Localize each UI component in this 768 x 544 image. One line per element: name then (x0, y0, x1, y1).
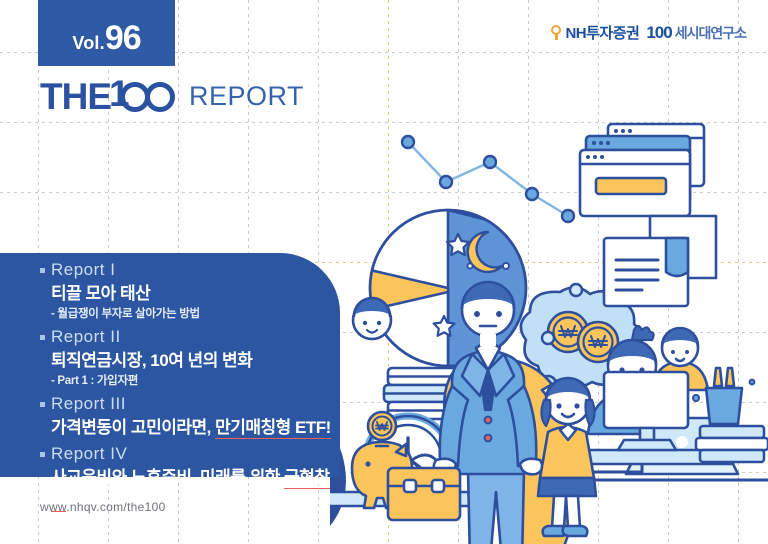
report-entry-3: Report III 가격변동이 고민이라면, 만기매칭형 ETF! (40, 393, 332, 440)
volume-number: 96 (105, 19, 141, 57)
report-4-title-text: 사교육비와 노후준비, 미래를 위한 (51, 468, 284, 487)
report-2-title-text: 퇴직연금시장, 10여 년의 변화 (51, 351, 252, 370)
report-cover: Vol.96 THE 1 REPORT NH투자증권 100 세시대연구소 Re… (0, 0, 768, 544)
report-2-heading: Report II (40, 326, 332, 349)
report-2-title: 퇴직연금시장, 10여 년의 변화 (51, 349, 332, 373)
report-entry-2: Report II 퇴직연금시장, 10여 년의 변화 - Part 1 : 가… (40, 326, 332, 390)
report-1-subtitle: - 월급쟁이 부자로 살아가는 방법 (51, 306, 332, 323)
square-bullet-icon (40, 335, 45, 340)
square-bullet-icon (40, 402, 45, 407)
cover-illustration (330, 120, 768, 544)
report-1-title-text: 티끌 모아 태산 (51, 284, 150, 303)
report-3-title-text: 가격변동이 고민이라면, (51, 418, 215, 437)
nh-sprout-logo-icon (550, 25, 562, 40)
brand-logo: NH투자증권 100 세시대연구소 (550, 22, 746, 43)
volume-prefix: Vol. (72, 33, 104, 53)
brand-lab-number: 100 (646, 23, 671, 43)
report-1-title: 티끌 모아 태산 (51, 282, 332, 306)
square-bullet-icon (40, 268, 45, 273)
report-4-label: Report IV (51, 443, 127, 466)
report-1-label: Report I (51, 259, 115, 282)
masthead-report-word: REPORT (189, 83, 304, 110)
masthead-zero-second-icon (145, 82, 175, 112)
report-entry-1: Report I 티끌 모아 태산 - 월급쟁이 부자로 살아가는 방법 (40, 259, 332, 323)
square-bullet-icon (40, 452, 45, 457)
masthead-logo: THE 1 REPORT (40, 76, 304, 116)
report-4-heading: Report IV (40, 443, 332, 466)
contents-list: Report I 티끌 모아 태산 - 월급쟁이 부자로 살아가는 방법 Rep… (40, 259, 332, 516)
volume-badge: Vol.96 (38, 0, 175, 66)
report-3-title: 가격변동이 고민이라면, 만기매칭형 ETF! (51, 416, 332, 440)
report-2-subtitle: - Part 1 : 가입자편 (51, 373, 332, 390)
masthead-hundred: 1 (109, 76, 183, 116)
brand-company-name: NH투자증권 (565, 22, 639, 43)
report-3-title-highlight: 만기매칭형 ETF! (215, 418, 331, 439)
site-url[interactable]: www.nhqv.com/the100 (40, 500, 166, 514)
report-3-heading: Report III (40, 393, 332, 416)
report-1-heading: Report I (40, 259, 332, 282)
report-2-label: Report II (51, 326, 121, 349)
volume-text: Vol.96 (72, 19, 140, 58)
brand-lab-name: 세시대연구소 (675, 23, 746, 43)
masthead-the: THE (40, 78, 111, 115)
contents-panel: Report I 티끌 모아 태산 - 월급쟁이 부자로 살아가는 방법 Rep… (0, 253, 340, 477)
report-3-label: Report III (51, 393, 126, 416)
